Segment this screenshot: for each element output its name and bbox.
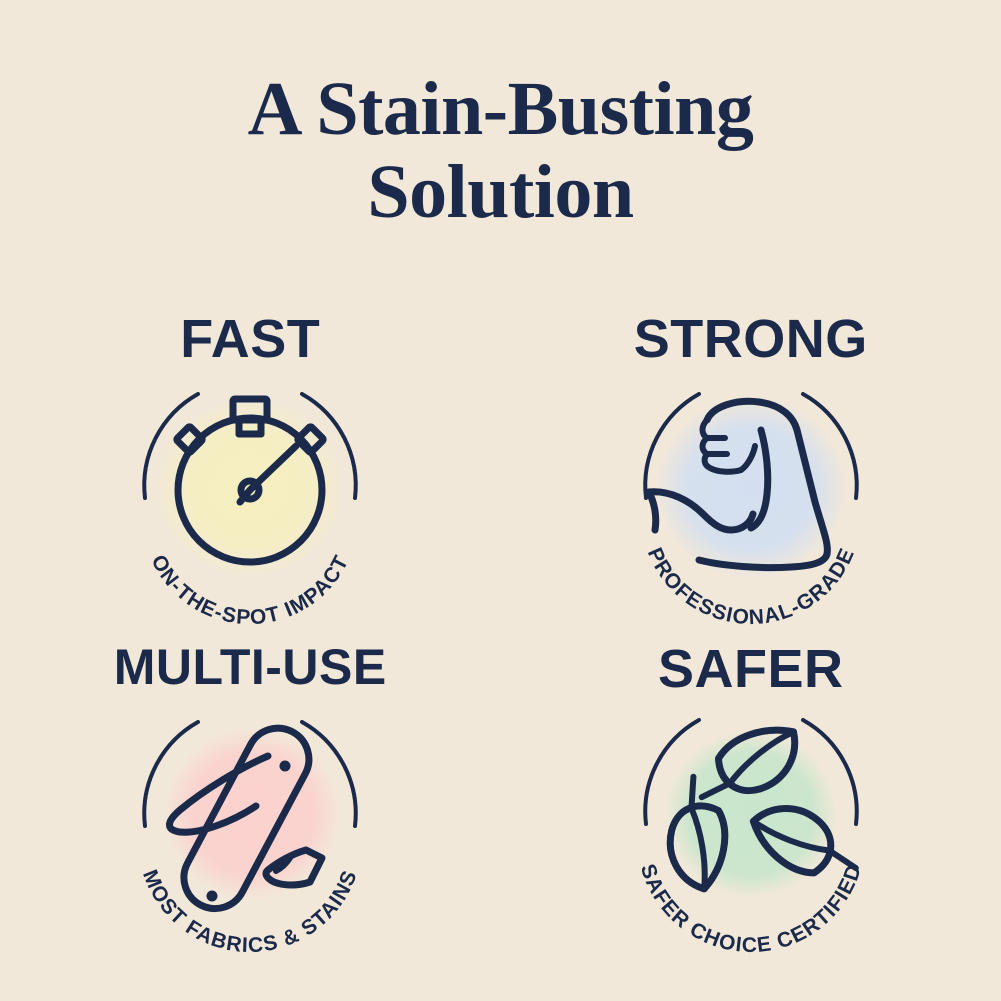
badge-multi-use: MULTI-USE — [0, 642, 501, 972]
blob-blue — [655, 396, 847, 580]
badge-fast: FAST — [0, 312, 501, 642]
badge-fast-heading: FAST — [85, 312, 415, 366]
badge-safer-graphic: SAFER CHOICE CERTIFIED — [601, 698, 901, 962]
promo-graphic: A Stain-Busting Solution FAST — [0, 0, 1001, 1001]
badge-fast-graphic: ON-THE-SPOT IMPACT — [100, 368, 400, 632]
badge-strong-graphic: PROFESSIONAL-GRADE — [601, 368, 901, 632]
pivot-dot-bottom — [207, 891, 218, 902]
page-title-line-2: Solution — [0, 155, 1001, 230]
badge-multi-use-graphic: MOST FABRICS & STAINS — [100, 698, 400, 962]
badge-multi-use-heading: MULTI-USE — [85, 642, 415, 692]
feature-badge-grid: FAST — [0, 312, 1001, 972]
badge-strong: STRONG — [501, 312, 1001, 642]
page-title-line-1: A Stain-Busting — [0, 72, 1001, 147]
badge-safer-heading: SAFER — [586, 642, 916, 696]
page-title: A Stain-Busting Solution — [0, 72, 1001, 230]
pivot-dot-top — [280, 761, 291, 772]
badge-safer: SAFER — [501, 642, 1001, 972]
badge-strong-heading: STRONG — [586, 312, 916, 366]
